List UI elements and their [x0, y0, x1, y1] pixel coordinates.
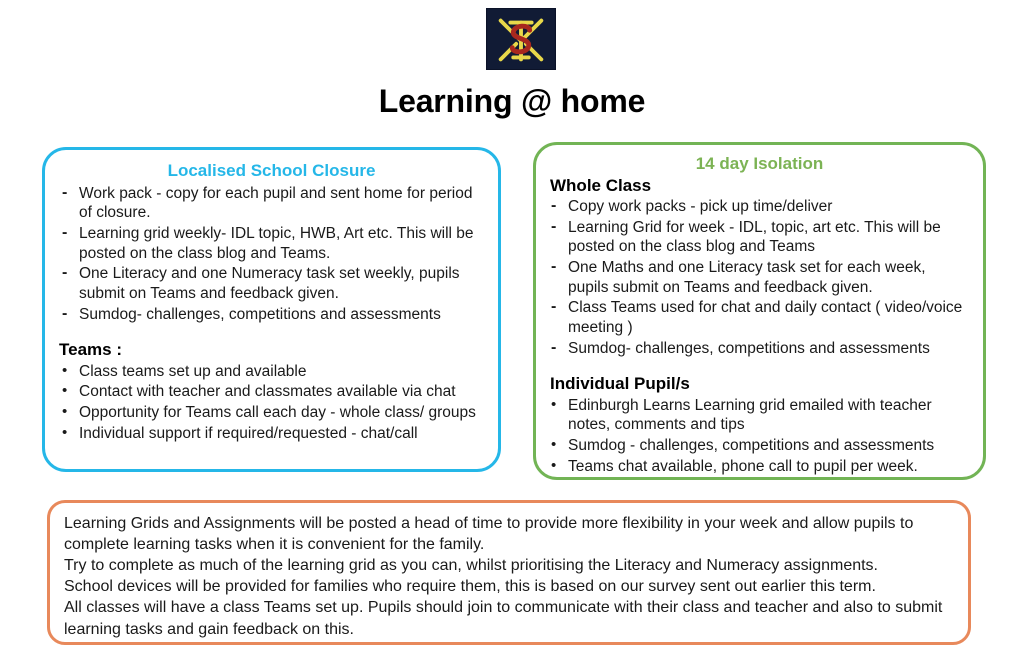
- list-item: Opportunity for Teams call each day - wh…: [57, 403, 488, 423]
- section-heading-whole-class: Whole Class: [536, 175, 983, 197]
- panel-localised-school-closure: Localised School Closure Work pack - cop…: [42, 147, 501, 472]
- closure-teams-list: Class teams set up and available Contact…: [45, 362, 498, 444]
- note-paragraph: All classes will have a class Teams set …: [64, 597, 954, 639]
- section-heading-individual-pupils: Individual Pupil/s: [536, 359, 983, 395]
- list-item: One Maths and one Literacy task set for …: [546, 258, 969, 297]
- panel-heading-isolation: 14 day Isolation: [536, 155, 983, 174]
- isolation-whole-class-list: Copy work packs - pick up time/deliver L…: [536, 197, 983, 358]
- list-item: Edinburgh Learns Learning grid emailed w…: [546, 396, 969, 435]
- list-item: Sumdog- challenges, competitions and ass…: [57, 305, 488, 325]
- list-item: Teams chat available, phone call to pupi…: [546, 457, 969, 477]
- list-item: Work pack - copy for each pupil and sent…: [57, 184, 488, 223]
- list-item: Sumdog- challenges, competitions and ass…: [546, 339, 969, 359]
- panel-heading-closure: Localised School Closure: [45, 162, 498, 181]
- section-heading-teams: Teams :: [45, 325, 498, 361]
- list-item: Class Teams used for chat and daily cont…: [546, 298, 969, 337]
- list-item: Sumdog - challenges, competitions and as…: [546, 436, 969, 456]
- school-crest-icon: [486, 8, 556, 70]
- list-item: Individual support if required/requested…: [57, 424, 488, 444]
- list-item: Learning grid weekly- IDL topic, HWB, Ar…: [57, 224, 488, 263]
- note-paragraph: Try to complete as much of the learning …: [64, 555, 954, 576]
- isolation-individual-list: Edinburgh Learns Learning grid emailed w…: [536, 396, 983, 477]
- list-item: Class teams set up and available: [57, 362, 488, 382]
- list-item: Learning Grid for week - IDL, topic, art…: [546, 218, 969, 257]
- list-item: One Literacy and one Numeracy task set w…: [57, 264, 488, 303]
- note-paragraph: School devices will be provided for fami…: [64, 576, 954, 597]
- page-title: Learning @ home: [0, 84, 1024, 119]
- panel-general-guidance-note: Learning Grids and Assignments will be p…: [47, 500, 971, 645]
- closure-dash-list: Work pack - copy for each pupil and sent…: [45, 184, 498, 325]
- panel-14-day-isolation: 14 day Isolation Whole Class Copy work p…: [533, 142, 986, 480]
- note-body: Learning Grids and Assignments will be p…: [50, 503, 968, 640]
- list-item: Contact with teacher and classmates avai…: [57, 382, 488, 402]
- list-item: Copy work packs - pick up time/deliver: [546, 197, 969, 217]
- note-paragraph: Learning Grids and Assignments will be p…: [64, 513, 954, 555]
